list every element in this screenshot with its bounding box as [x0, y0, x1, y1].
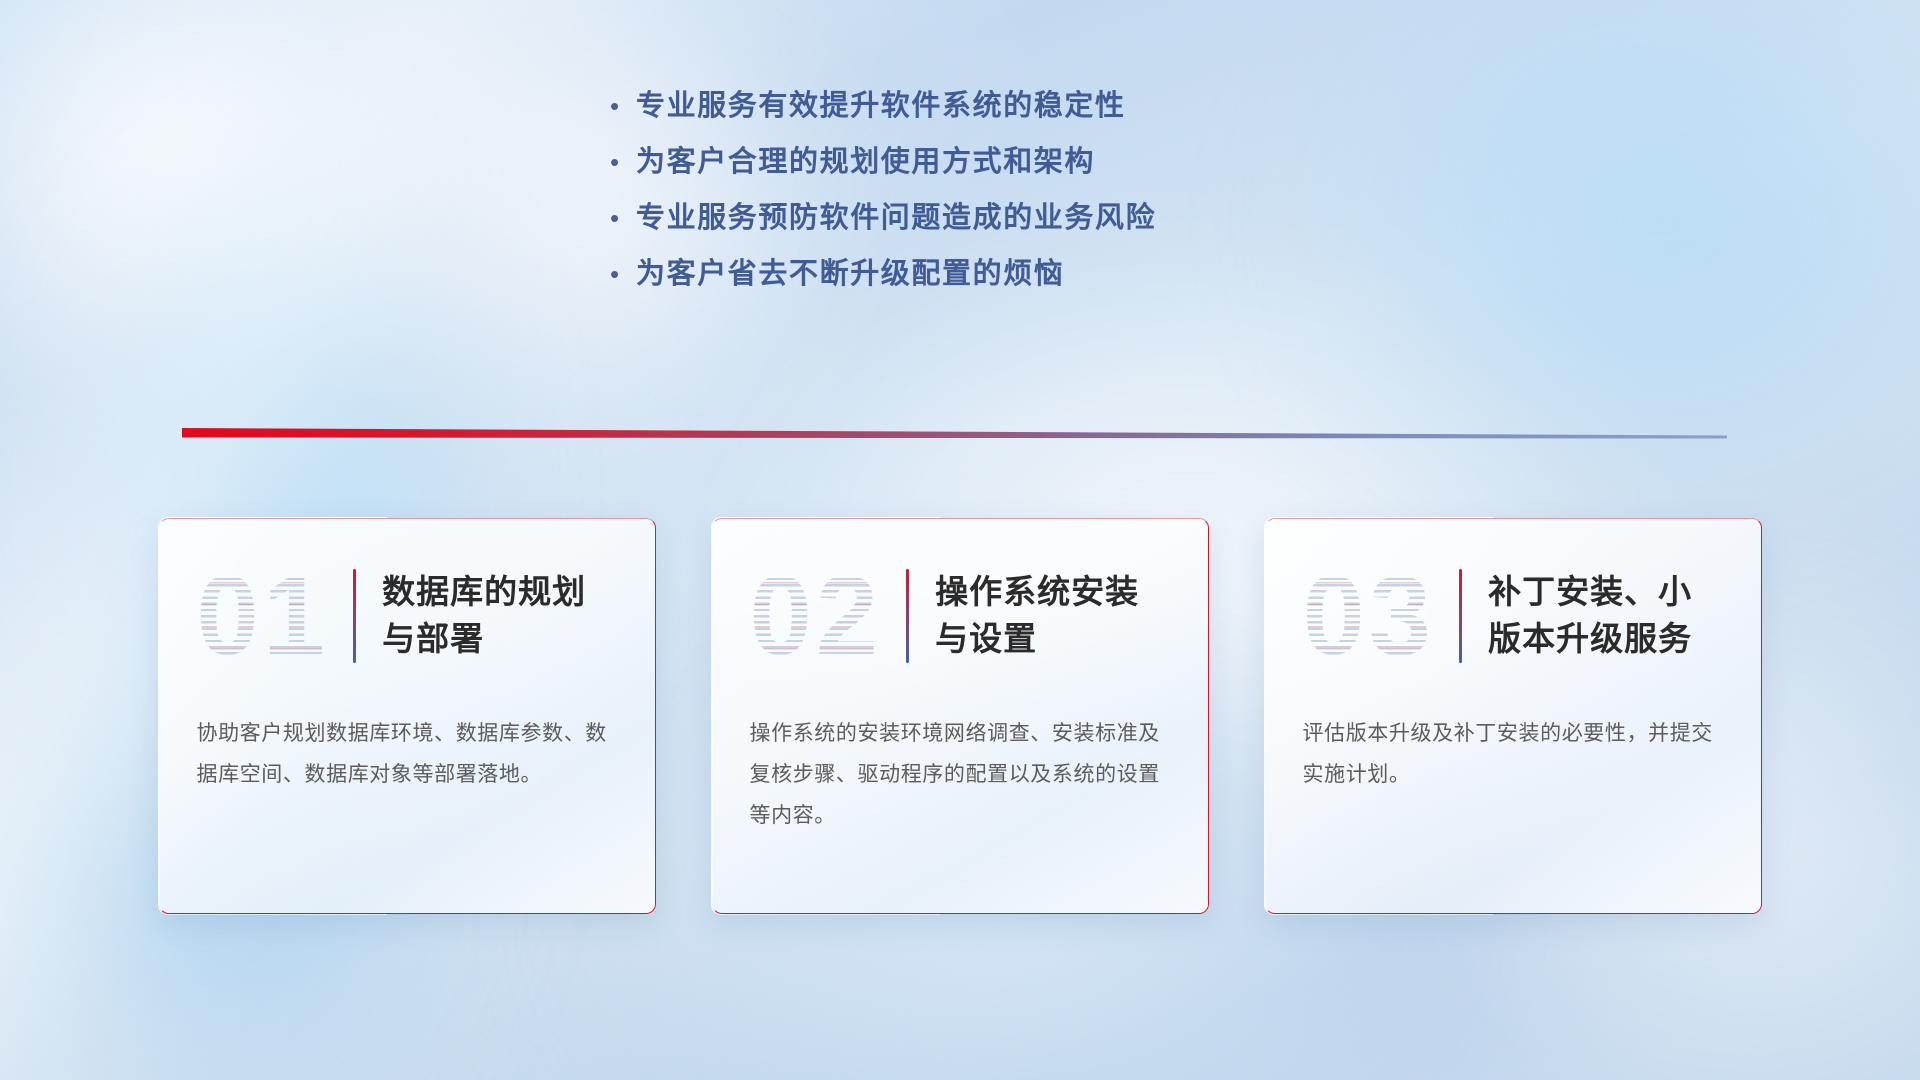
- card-description: 操作系统的安装环境网络调查、安装标准及复核步骤、驱动程序的配置以及系统的设置等内…: [712, 714, 1209, 837]
- service-card[interactable]: 01 01 数据库的规划 与部署 协助客户规划数据库环境、数据库参数、数据库空间…: [159, 518, 656, 914]
- card-title: 补丁安装、小 版本升级服务: [1488, 569, 1692, 663]
- list-item: • 专业服务预防软件问题造成的业务风险: [610, 200, 1310, 237]
- card-header: 03 03 补丁安装、小 版本升级服务: [1265, 518, 1762, 714]
- section-divider: [182, 424, 1727, 442]
- card-header: 02 02 操作系统安装 与设置: [712, 518, 1209, 714]
- bullet-point-icon: •: [610, 205, 636, 231]
- card-title: 操作系统安装 与设置: [935, 569, 1139, 663]
- divider-wedge-shape: [182, 424, 1727, 442]
- card-description: 评估版本升级及补丁安装的必要性，并提交实施计划。: [1265, 714, 1762, 796]
- card-divider-rule: [906, 569, 909, 663]
- bullet-label: 专业服务有效提升软件系统的稳定性: [636, 88, 1126, 125]
- list-item: • 为客户合理的规划使用方式和架构: [610, 144, 1310, 181]
- card-header: 01 01 数据库的规划 与部署: [159, 518, 656, 714]
- card-divider-rule: [353, 569, 356, 663]
- card-number-value: 02: [742, 553, 889, 678]
- service-card[interactable]: 03 03 补丁安装、小 版本升级服务 评估版本升级及补丁安装的必要性，并提交实…: [1265, 518, 1762, 914]
- bullet-label: 为客户合理的规划使用方式和架构: [636, 144, 1095, 181]
- bullet-label: 专业服务预防软件问题造成的业务风险: [636, 200, 1156, 237]
- bullet-label: 为客户省去不断升级配置的烦恼: [636, 256, 1064, 293]
- card-number-value: 03: [1295, 553, 1442, 678]
- card-number-watermark: 03 03: [1295, 560, 1442, 672]
- card-title: 数据库的规划 与部署: [382, 569, 586, 663]
- card-number-value: 01: [189, 553, 336, 678]
- card-description: 协助客户规划数据库环境、数据库参数、数据库空间、数据库对象等部署落地。: [159, 714, 656, 796]
- bullet-point-icon: •: [610, 93, 636, 119]
- card-number-watermark: 01 01: [189, 560, 336, 672]
- service-card[interactable]: 02 02 操作系统安装 与设置 操作系统的安装环境网络调查、安装标准及复核步骤…: [712, 518, 1209, 914]
- bullet-point-icon: •: [610, 261, 636, 287]
- benefits-bullet-list: • 专业服务有效提升软件系统的稳定性 • 为客户合理的规划使用方式和架构 • 专…: [0, 88, 1920, 312]
- card-divider-rule: [1459, 569, 1462, 663]
- card-number-watermark: 02 02: [742, 560, 889, 672]
- service-card-list: 01 01 数据库的规划 与部署 协助客户规划数据库环境、数据库参数、数据库空间…: [0, 518, 1920, 914]
- bullet-point-icon: •: [610, 149, 636, 175]
- list-item: • 为客户省去不断升级配置的烦恼: [610, 256, 1310, 293]
- list-item: • 专业服务有效提升软件系统的稳定性: [610, 88, 1310, 125]
